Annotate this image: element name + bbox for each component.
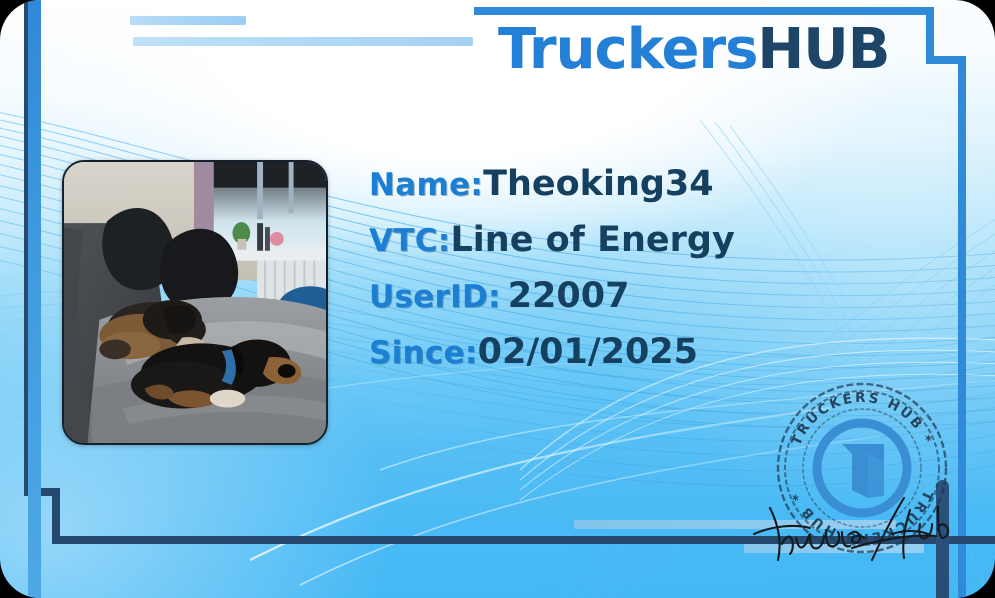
decor-bar-top-2 (133, 37, 473, 46)
driver-info-fields: Name: Theoking34 VTC: Line of Energy Use… (369, 164, 799, 388)
driver-avatar-photo (62, 160, 328, 445)
avatar-photo-artwork (64, 162, 326, 443)
field-row-since: Since: 02/01/2025 (369, 332, 799, 388)
field-row-vtc: VTC: Line of Energy (369, 220, 799, 276)
field-row-userid: UserID: 22007 (369, 276, 799, 332)
driver-id-card: TruckersHUB (0, 0, 995, 598)
brand-logo: TruckersHUB (498, 22, 889, 78)
decor-bar-top-1 (130, 16, 246, 25)
brand-logo-hub: HUB (757, 17, 889, 82)
field-value-name: Theoking34 (483, 164, 714, 204)
brand-logo-truckers: Truckers (498, 17, 757, 82)
decor-vertical-bar-left (28, 0, 41, 598)
field-label-vtc: VTC: (369, 223, 451, 259)
field-value-vtc: Line of Energy (451, 220, 735, 260)
field-label-since: Since: (369, 335, 478, 371)
field-value-since: 02/01/2025 (478, 332, 698, 372)
field-row-name: Name: Theoking34 (369, 164, 799, 220)
signature-mark (752, 490, 962, 570)
field-label-userid: UserID: (369, 279, 501, 315)
field-value-userid: 22007 (508, 276, 630, 316)
field-label-name: Name: (369, 167, 483, 203)
